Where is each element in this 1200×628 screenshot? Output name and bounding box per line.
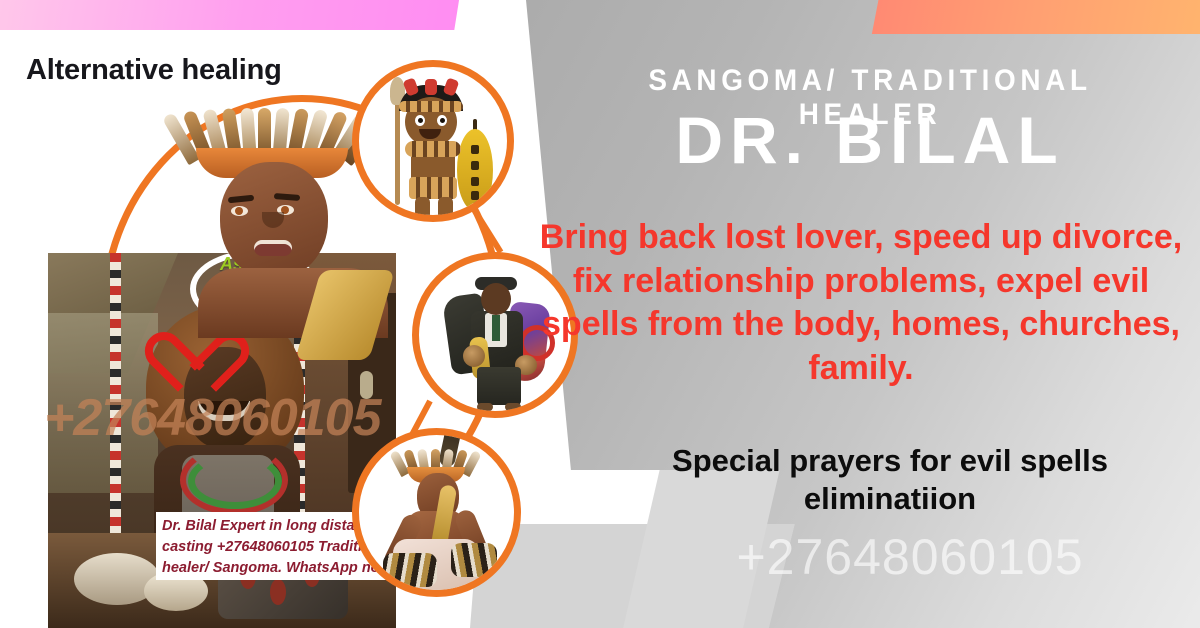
warrior-eye-right [437, 115, 447, 126]
poster-canvas: Ask the expert +27648060105 Dr. Bilal Ex… [0, 0, 1200, 628]
warrior-skirt [409, 177, 457, 199]
healer-legs [477, 367, 521, 405]
circle-inset-crouching-sangoma [352, 428, 521, 597]
warrior-fur-collar [405, 141, 461, 157]
warrior-leg-left [415, 197, 430, 219]
pink-accent-band [0, 0, 460, 30]
healer-head [481, 283, 511, 315]
sangoma-pupil-left [235, 207, 243, 215]
healer-drum-left [463, 345, 485, 367]
warrior-leg-right [438, 197, 453, 219]
warrior-eye-left [415, 115, 425, 126]
healer-foot-left [477, 403, 493, 411]
shield-icon [457, 129, 493, 211]
crouching-fur-left [383, 553, 437, 587]
healer-foot-right [505, 403, 521, 411]
crouching-fur-right [451, 543, 497, 577]
photo-phone-watermark: +27648060105 [44, 388, 444, 448]
special-prayers-text: Special prayers for evil spells eliminat… [600, 442, 1180, 518]
services-text: Bring back lost lover, speed up divorce,… [536, 216, 1186, 390]
healer-tie [492, 315, 500, 341]
warrior-headband [399, 101, 463, 112]
alternative-healing-heading: Alternative healing [26, 54, 282, 87]
sangoma-mouth [254, 240, 292, 256]
orange-accent-band [872, 0, 1200, 34]
phone-number-watermark: +27648060105 [620, 528, 1200, 586]
healer-name-title: DR. BILAL [560, 106, 1180, 175]
photo-necklace-green [188, 453, 282, 509]
circle-inset-warrior [352, 60, 514, 222]
